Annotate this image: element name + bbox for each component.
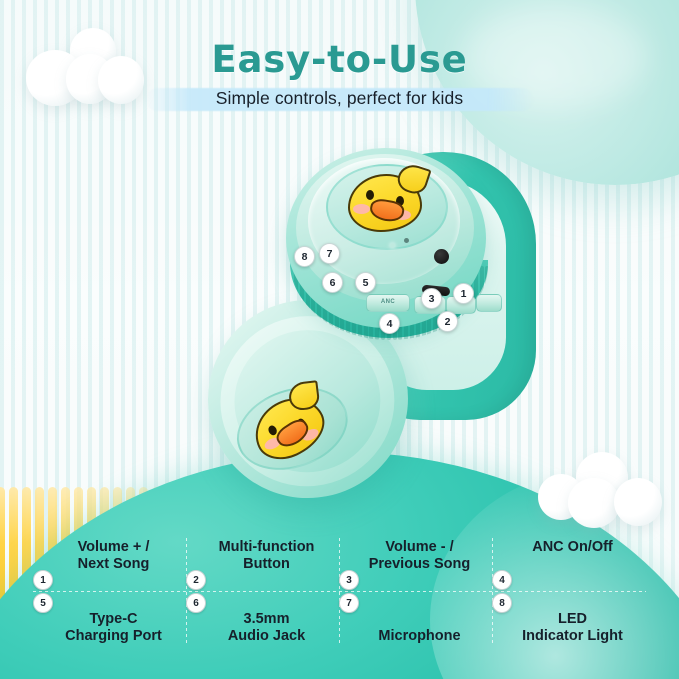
legend-badge-2[interactable]: 2 (186, 570, 206, 590)
callout-badge-7[interactable]: 7 (319, 243, 340, 264)
legend-grid: 1Volume + /Next Song2Multi-functionButto… (33, 536, 646, 648)
microphone-hole (404, 238, 409, 243)
legend-label-7: Microphone (351, 628, 488, 645)
legend-cell-6: 63.5mmAudio Jack (186, 592, 339, 647)
anc-button-label: ANC (367, 299, 409, 305)
legend-label-5: Type-CCharging Port (45, 611, 182, 645)
legend-label-1: Volume + /Next Song (45, 539, 182, 573)
callout-badge-3[interactable]: 3 (421, 288, 442, 309)
legend-cell-1: 1Volume + /Next Song (33, 536, 186, 591)
legend-badge-1[interactable]: 1 (33, 570, 53, 590)
volume-plus-button[interactable] (476, 294, 502, 312)
callout-badge-1[interactable]: 1 (453, 283, 474, 304)
legend-cell-2: 2Multi-functionButton (186, 536, 339, 591)
legend-badge-4[interactable]: 4 (492, 570, 512, 590)
page-subtitle: Simple controls, perfect for kids (0, 88, 679, 109)
legend-badge-8[interactable]: 8 (492, 593, 512, 613)
audio-jack-port (434, 249, 449, 264)
legend-label-4: ANC On/Off (504, 539, 641, 556)
infographic-canvas: Easy-to-Use Simple controls, perfect for… (0, 0, 679, 679)
anc-button[interactable]: ANC (366, 294, 410, 312)
legend-label-6: 3.5mmAudio Jack (198, 611, 335, 645)
headphones-illustration: ANC (198, 140, 558, 510)
legend-label-8: LEDIndicator Light (504, 611, 641, 645)
callout-badge-5[interactable]: 5 (355, 272, 376, 293)
legend-cell-8: 8LEDIndicator Light (492, 592, 645, 647)
legend-label-3: Volume - /Previous Song (351, 539, 488, 573)
legend-label-2: Multi-functionButton (198, 539, 335, 573)
legend-cell-3: 3Volume - /Previous Song (339, 536, 492, 591)
legend-cell-5: 5Type-CCharging Port (33, 592, 186, 647)
legend-cell-7: 7Microphone (339, 592, 492, 647)
legend-cell-4: 4ANC On/Off (492, 536, 645, 591)
callout-badge-4[interactable]: 4 (379, 313, 400, 334)
legend-badge-7[interactable]: 7 (339, 593, 359, 613)
led-indicator (390, 243, 395, 248)
callout-badge-8[interactable]: 8 (294, 246, 315, 267)
legend-badge-6[interactable]: 6 (186, 593, 206, 613)
callout-badge-6[interactable]: 6 (322, 272, 343, 293)
page-title: Easy-to-Use (0, 38, 679, 81)
legend-badge-5[interactable]: 5 (33, 593, 53, 613)
callout-badge-2[interactable]: 2 (437, 311, 458, 332)
legend-badge-3[interactable]: 3 (339, 570, 359, 590)
duck-face-icon-upper (348, 174, 422, 232)
